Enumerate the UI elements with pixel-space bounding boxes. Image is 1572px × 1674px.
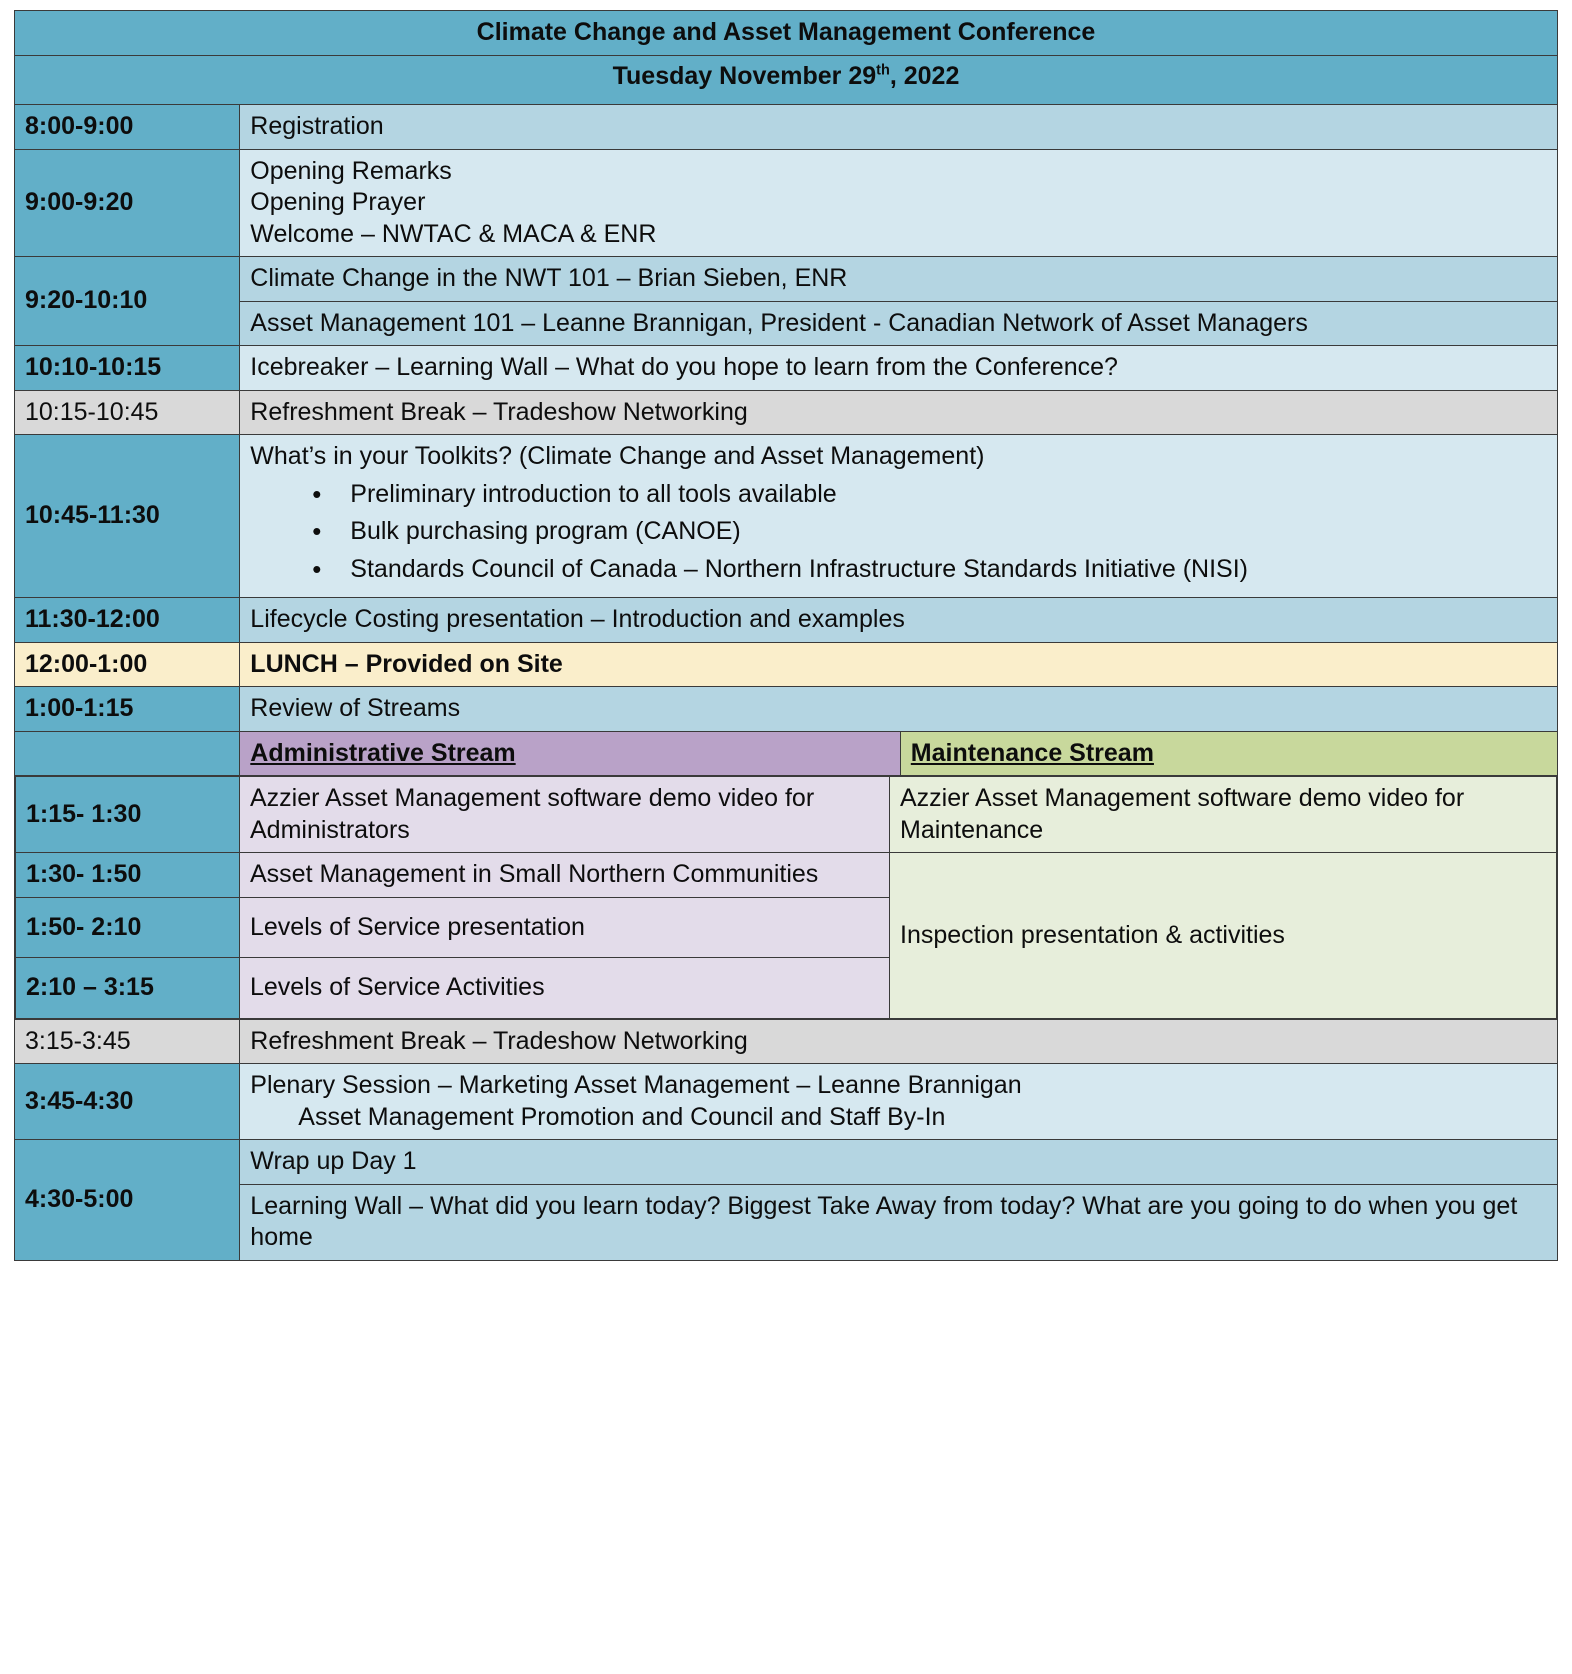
table-row: 3:15-3:45 Refreshment Break – Tradeshow … bbox=[15, 1019, 1558, 1064]
table-row: 1:15- 1:30 Azzier Asset Management softw… bbox=[16, 777, 1557, 853]
session-cell: Asset Management 101 – Leanne Brannigan,… bbox=[240, 301, 1558, 346]
time-cell: 1:00-1:15 bbox=[15, 687, 240, 732]
stream-header-container: Administrative Stream Maintenance Stream bbox=[240, 731, 1558, 776]
session-cell: Icebreaker – Learning Wall – What do you… bbox=[240, 346, 1558, 391]
conference-date: Tuesday November 29th, 2022 bbox=[15, 55, 1558, 105]
time-cell: 4:30-5:00 bbox=[15, 1140, 240, 1261]
session-cell: Review of Streams bbox=[240, 687, 1558, 732]
session-cell: Climate Change in the NWT 101 – Brian Si… bbox=[240, 257, 1558, 302]
admin-session-cell: Azzier Asset Management software demo vi… bbox=[240, 777, 890, 853]
session-line: Asset Management Promotion and Council a… bbox=[250, 1102, 1547, 1134]
session-cell: Registration bbox=[240, 105, 1558, 150]
time-cell bbox=[15, 731, 240, 776]
time-cell: 10:45-11:30 bbox=[15, 435, 240, 598]
session-line: Opening Prayer bbox=[250, 187, 1547, 219]
session-cell: LUNCH – Provided on Site bbox=[240, 642, 1558, 687]
time-cell: 2:10 – 3:15 bbox=[16, 958, 240, 1019]
time-cell: 1:50- 2:10 bbox=[16, 897, 240, 958]
table-row: 10:15-10:45 Refreshment Break – Tradesho… bbox=[15, 390, 1558, 435]
maintenance-stream-label: Maintenance Stream bbox=[911, 739, 1154, 767]
table-row: 10:10-10:15 Icebreaker – Learning Wall –… bbox=[15, 346, 1558, 391]
list-item: Bulk purchasing program (CANOE) bbox=[250, 516, 1547, 548]
table-row: 11:30-12:00 Lifecycle Costing presentati… bbox=[15, 598, 1558, 643]
session-cell: Learning Wall – What did you learn today… bbox=[240, 1184, 1558, 1260]
toolkit-bullet-list: Preliminary introduction to all tools av… bbox=[250, 479, 1547, 586]
session-heading: What’s in your Toolkits? (Climate Change… bbox=[250, 441, 1547, 473]
session-cell: What’s in your Toolkits? (Climate Change… bbox=[240, 435, 1558, 598]
list-item: Preliminary introduction to all tools av… bbox=[250, 479, 1547, 511]
table-row: 4:30-5:00 Wrap up Day 1 bbox=[15, 1140, 1558, 1185]
administrative-stream-label: Administrative Stream bbox=[250, 739, 515, 767]
table-row: 3:45-4:30 Plenary Session – Marketing As… bbox=[15, 1064, 1558, 1140]
session-line: Opening Remarks bbox=[250, 156, 1547, 188]
session-cell: Wrap up Day 1 bbox=[240, 1140, 1558, 1185]
session-cell: Refreshment Break – Tradeshow Networking bbox=[240, 390, 1558, 435]
list-item: Standards Council of Canada – Northern I… bbox=[250, 554, 1547, 586]
table-row: 9:00-9:20 Opening Remarks Opening Prayer… bbox=[15, 149, 1558, 257]
time-cell: 11:30-12:00 bbox=[15, 598, 240, 643]
table-row: 9:20-10:10 Climate Change in the NWT 101… bbox=[15, 257, 1558, 302]
time-cell: 9:00-9:20 bbox=[15, 149, 240, 257]
stream-body-container: 1:15- 1:30 Azzier Asset Management softw… bbox=[15, 776, 1558, 1020]
session-cell: Opening Remarks Opening Prayer Welcome –… bbox=[240, 149, 1558, 257]
conference-title: Climate Change and Asset Management Conf… bbox=[15, 11, 1558, 56]
maintenance-stream-header: Maintenance Stream bbox=[900, 732, 1557, 776]
conference-date-suffix: , 2022 bbox=[890, 62, 960, 90]
time-cell: 10:15-10:45 bbox=[15, 390, 240, 435]
time-cell: 10:10-10:15 bbox=[15, 346, 240, 391]
time-cell: 12:00-1:00 bbox=[15, 642, 240, 687]
session-line: Plenary Session – Marketing Asset Manage… bbox=[250, 1070, 1547, 1102]
conference-date-ordinal: th bbox=[876, 62, 890, 78]
table-row: 8:00-9:00 Registration bbox=[15, 105, 1558, 150]
time-cell: 1:30- 1:50 bbox=[16, 853, 240, 898]
admin-session-cell: Levels of Service presentation bbox=[240, 897, 890, 958]
conference-agenda-table: Climate Change and Asset Management Conf… bbox=[14, 10, 1558, 1261]
table-row: 1:00-1:15 Review of Streams bbox=[15, 687, 1558, 732]
table-row: 10:45-11:30 What’s in your Toolkits? (Cl… bbox=[15, 435, 1558, 598]
table-row: 1:30- 1:50 Asset Management in Small Nor… bbox=[16, 853, 1557, 898]
time-cell: 3:45-4:30 bbox=[15, 1064, 240, 1140]
session-cell: Refreshment Break – Tradeshow Networking bbox=[240, 1019, 1558, 1064]
agenda-page: Climate Change and Asset Management Conf… bbox=[0, 0, 1572, 1674]
session-line: Welcome – NWTAC & MACA & ENR bbox=[250, 219, 1547, 251]
session-cell: Lifecycle Costing presentation – Introdu… bbox=[240, 598, 1558, 643]
admin-session-cell: Asset Management in Small Northern Commu… bbox=[240, 853, 890, 898]
title-row-2: Tuesday November 29th, 2022 bbox=[15, 55, 1558, 105]
maintenance-session-cell-span: Inspection presentation & activities bbox=[890, 853, 1557, 1019]
table-row: 12:00-1:00 LUNCH – Provided on Site bbox=[15, 642, 1558, 687]
stream-header-row: Administrative Stream Maintenance Stream bbox=[15, 731, 1558, 776]
administrative-stream-header: Administrative Stream bbox=[240, 732, 900, 776]
session-cell: Plenary Session – Marketing Asset Manage… bbox=[240, 1064, 1558, 1140]
conference-date-prefix: Tuesday November 29 bbox=[613, 62, 877, 90]
stream-body-row: 1:15- 1:30 Azzier Asset Management softw… bbox=[15, 776, 1558, 1020]
admin-session-cell: Levels of Service Activities bbox=[240, 958, 890, 1019]
maintenance-session-cell: Azzier Asset Management software demo vi… bbox=[890, 777, 1557, 853]
time-cell: 1:15- 1:30 bbox=[16, 777, 240, 853]
title-row-1: Climate Change and Asset Management Conf… bbox=[15, 11, 1558, 56]
time-cell: 3:15-3:45 bbox=[15, 1019, 240, 1064]
time-cell: 9:20-10:10 bbox=[15, 257, 240, 346]
table-row: Learning Wall – What did you learn today… bbox=[15, 1184, 1558, 1260]
time-cell: 8:00-9:00 bbox=[15, 105, 240, 150]
table-row: Asset Management 101 – Leanne Brannigan,… bbox=[15, 301, 1558, 346]
